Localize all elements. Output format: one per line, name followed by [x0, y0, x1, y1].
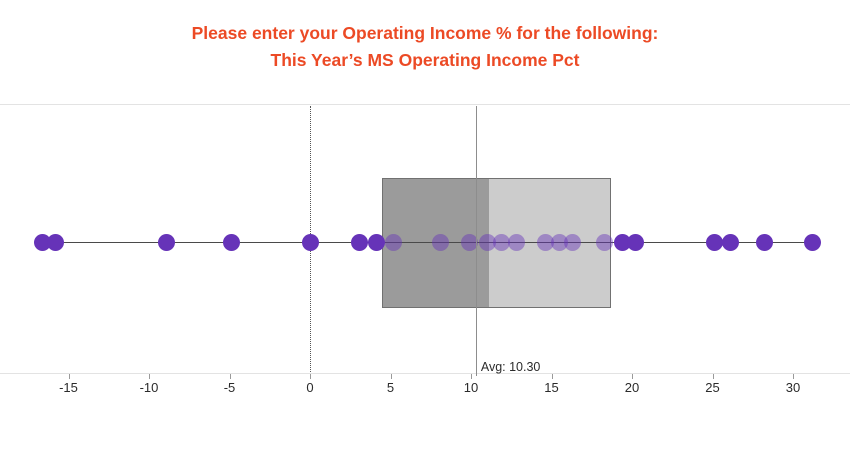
x-axis-tick-label: 10: [464, 380, 478, 395]
data-point: [432, 234, 449, 251]
x-axis-tick-mark: [391, 374, 392, 379]
x-axis-tick-mark: [230, 374, 231, 379]
x-axis-tick-label: 0: [306, 380, 313, 395]
plot-top-border: [0, 104, 850, 105]
data-point: [706, 234, 723, 251]
x-axis-tick-label: -5: [224, 380, 236, 395]
x-axis: -15-10-5051015202530: [0, 374, 850, 414]
average-label: Avg: 10.30: [481, 360, 541, 374]
x-axis-tick-mark: [310, 374, 311, 379]
data-point: [47, 234, 64, 251]
x-axis-tick-mark: [793, 374, 794, 379]
x-axis-tick-label: 15: [544, 380, 558, 395]
x-axis-tick-label: -15: [59, 380, 78, 395]
x-axis-tick-label: 30: [786, 380, 800, 395]
data-point: [158, 234, 175, 251]
plot-area: [0, 104, 850, 374]
x-axis-tick-mark: [632, 374, 633, 379]
data-point: [756, 234, 773, 251]
x-axis-tick-mark: [69, 374, 70, 379]
x-axis-tick-mark: [552, 374, 553, 379]
x-axis-tick-label: 5: [387, 380, 394, 395]
x-axis-tick-mark: [149, 374, 150, 379]
x-axis-tick-mark: [471, 374, 472, 379]
data-point: [368, 234, 385, 251]
chart-root: Please enter your Operating Income % for…: [0, 0, 850, 450]
x-axis-tick-mark: [713, 374, 714, 379]
data-point: [223, 234, 240, 251]
data-point: [302, 234, 319, 251]
data-point: [596, 234, 613, 251]
chart-title-line-2: This Year’s MS Operating Income Pct: [0, 47, 850, 74]
data-point: [564, 234, 581, 251]
data-point: [804, 234, 821, 251]
data-point: [722, 234, 739, 251]
data-point: [351, 234, 368, 251]
data-point: [627, 234, 644, 251]
chart-title-line-1: Please enter your Operating Income % for…: [0, 20, 850, 47]
average-line: [476, 106, 477, 376]
x-axis-tick-label: 25: [705, 380, 719, 395]
x-axis-tick-label: 20: [625, 380, 639, 395]
x-axis-tick-label: -10: [140, 380, 159, 395]
chart-title: Please enter your Operating Income % for…: [0, 20, 850, 74]
data-point: [385, 234, 402, 251]
data-point: [508, 234, 525, 251]
